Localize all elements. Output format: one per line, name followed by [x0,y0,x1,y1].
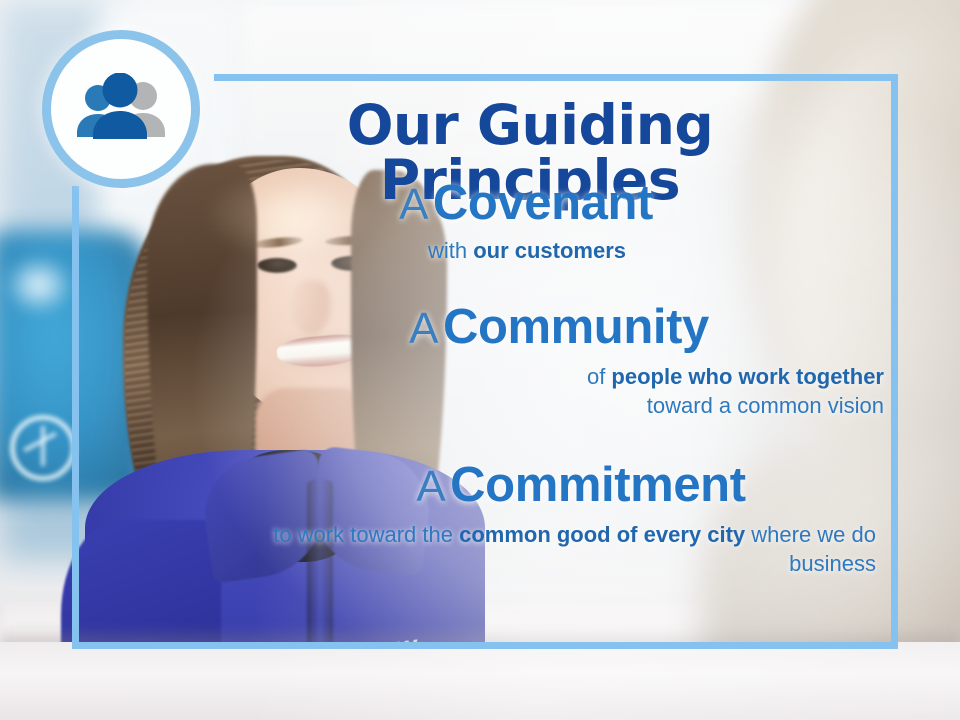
covenant-sub-plain-1: with [428,238,473,263]
commitment-sub-plain-1: to work toward the [273,522,459,547]
principle-community-heading: A Community [200,302,890,353]
covenant-sub-bold-1: our customers [473,238,626,263]
community-sub-plain-2: toward a common vision [647,393,884,418]
people-group-icon-badge [42,30,200,188]
principle-commitment: A Commitment to work toward the common g… [200,460,890,578]
principle-commitment-heading: A Commitment [200,460,890,511]
commitment-sub-plain-2: where we do business [745,522,876,575]
people-group-icon [69,73,173,145]
principle-covenant-article: A [399,180,428,229]
principle-covenant-heading: A Covenant [200,178,890,229]
guiding-principles-poster: FLOW AUTOMOTIVE FLOW [0,0,960,720]
community-sub-bold-1: people who work together [611,364,884,389]
principle-covenant-word: Covenant [433,176,653,230]
principle-community-word: Community [443,300,709,354]
principle-community-subtext: of people who work together toward a com… [200,363,890,419]
principle-covenant-subtext: with our customers [200,237,890,265]
principle-covenant: A Covenant with our customers [200,178,890,266]
principle-community: A Community of people who work together … [200,302,890,420]
community-sub-plain-1: of [587,364,611,389]
principle-commitment-subtext: to work toward the common good of every … [200,521,890,577]
principle-commitment-word: Commitment [450,458,745,512]
text-content: Our Guiding Principles A Covenant with o… [200,70,890,650]
principle-community-article: A [409,304,438,353]
commitment-sub-bold-1: common good of every city [459,522,745,547]
white-table-surface [0,642,960,720]
principle-commitment-article: A [416,462,445,511]
